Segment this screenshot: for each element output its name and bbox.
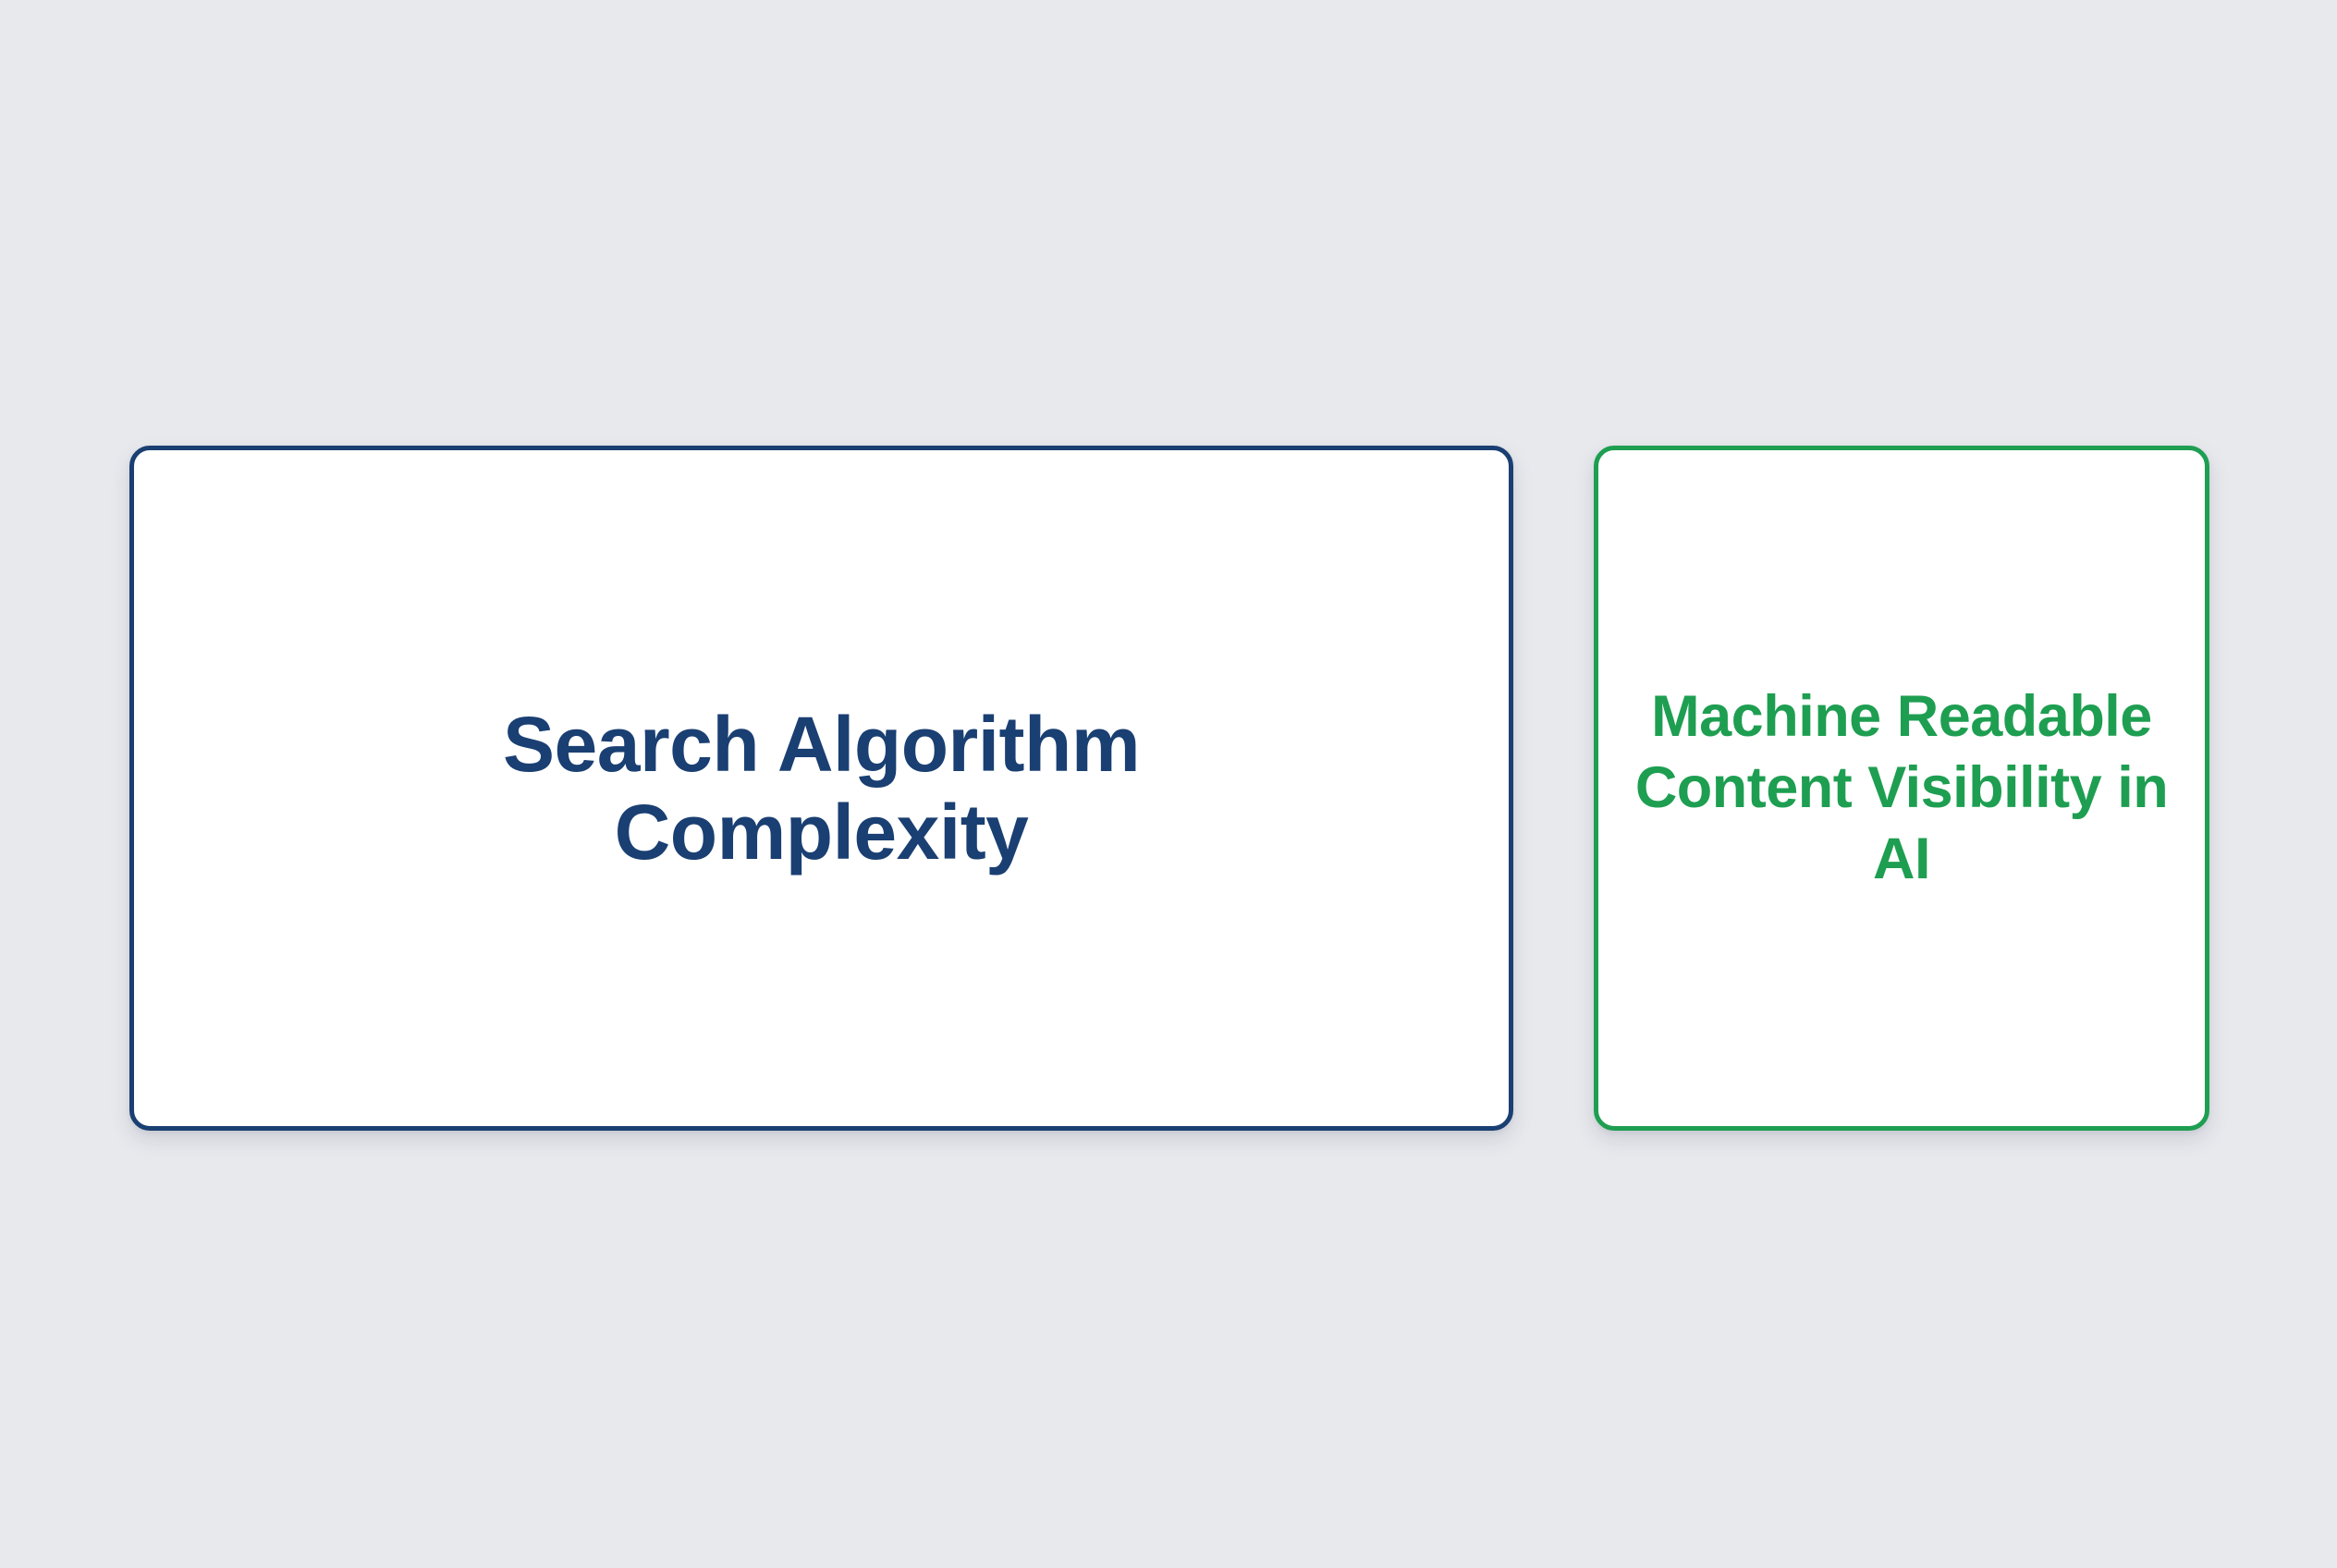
card-primary-title: Search Algorithm Complexity	[323, 701, 1321, 875]
card-search-algorithm-complexity[interactable]: Search Algorithm Complexity	[129, 446, 1513, 1131]
card-secondary-title: Machine Readable Content Visibility in A…	[1608, 681, 2196, 895]
card-stage: Search Algorithm Complexity Machine Read…	[0, 0, 2337, 1568]
card-machine-readable-content-visibility[interactable]: Machine Readable Content Visibility in A…	[1594, 446, 2209, 1131]
